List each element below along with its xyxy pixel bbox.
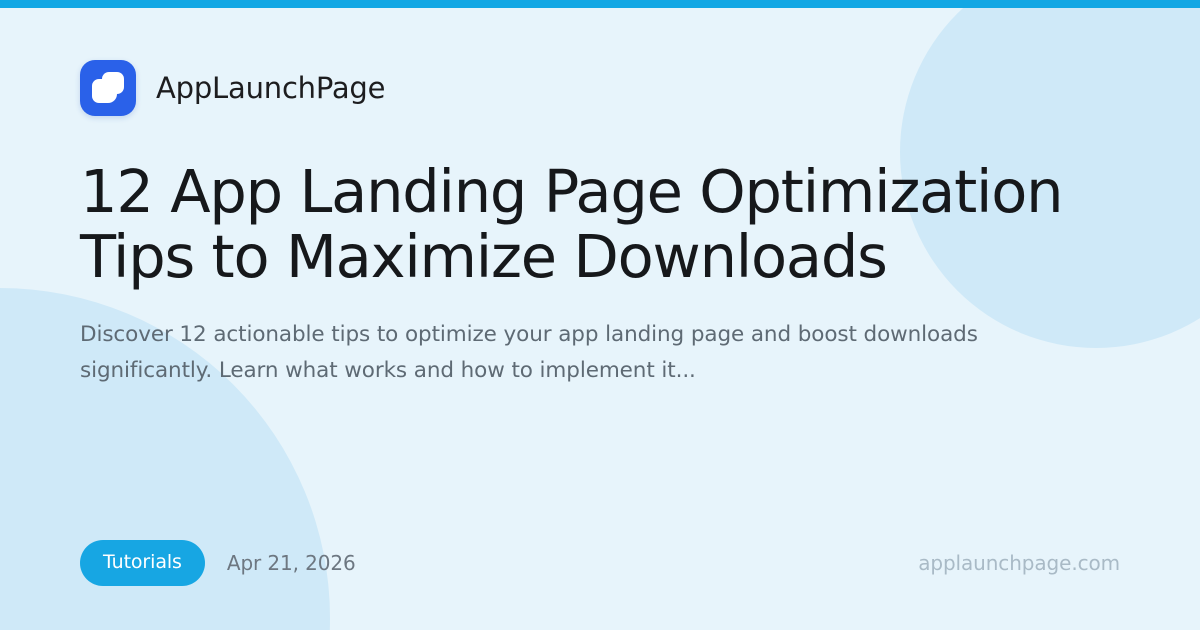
brand-lockup: AppLaunchPage <box>80 60 1120 116</box>
article-description: Discover 12 actionable tips to optimize … <box>80 317 1040 389</box>
publish-date: Apr 21, 2026 <box>227 551 356 575</box>
logo-shape-square <box>102 72 124 94</box>
site-domain: applaunchpage.com <box>918 551 1120 575</box>
card-content: AppLaunchPage 12 App Landing Page Optimi… <box>0 0 1200 630</box>
app-window-stack-icon <box>80 60 136 116</box>
card-footer: Tutorials Apr 21, 2026 applaunchpage.com <box>80 540 1120 586</box>
status-badge[interactable]: Tutorials <box>80 540 205 586</box>
footer-meta-group: Tutorials Apr 21, 2026 <box>80 540 356 586</box>
page-title: 12 App Landing Page Optimization Tips to… <box>80 159 1120 289</box>
brand-name: AppLaunchPage <box>156 74 385 103</box>
og-share-card: AppLaunchPage 12 App Landing Page Optimi… <box>0 0 1200 630</box>
top-accent-bar <box>0 0 1200 8</box>
layout-spacer <box>80 389 1120 540</box>
